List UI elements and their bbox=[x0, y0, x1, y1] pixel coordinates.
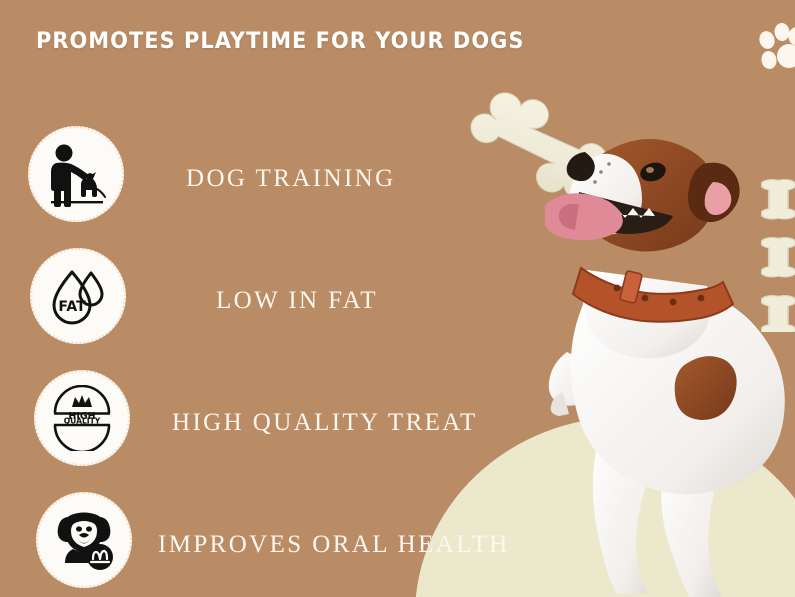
feature-label-improves-oral-health: IMPROVES ORAL HEALTH bbox=[158, 531, 510, 559]
badge-low-in-fat: FAT bbox=[30, 248, 126, 344]
fat-icon-text: FAT bbox=[58, 299, 86, 315]
bone-treat-strip bbox=[761, 172, 795, 332]
dog-dental-health-icon bbox=[51, 507, 117, 573]
badge-dog-training bbox=[28, 126, 124, 222]
paw-print-icon bbox=[749, 22, 795, 70]
high-quality-bottom-text: QUALITY bbox=[64, 417, 101, 426]
high-quality-crown-badge-icon: HIGH QUALITY bbox=[49, 385, 115, 451]
badge-high-quality: HIGH QUALITY bbox=[34, 370, 130, 466]
feature-item-high-quality-treat: HIGH QUALITY HIGH QUALITY TREAT bbox=[0, 362, 560, 484]
promo-poster: PROMOTES PLAYTIME FOR YOUR DOGS bbox=[0, 0, 795, 597]
feature-item-dog-training: DOG TRAINING bbox=[0, 118, 560, 240]
fat-droplet-icon: FAT bbox=[46, 264, 110, 328]
feature-list: DOG TRAINING FAT LOW IN FAT bbox=[0, 118, 560, 597]
feature-item-improves-oral-health: IMPROVES ORAL HEALTH bbox=[0, 484, 560, 597]
person-training-dog-icon bbox=[43, 141, 109, 207]
feature-label-high-quality-treat: HIGH QUALITY TREAT bbox=[172, 409, 478, 437]
feature-label-dog-training: DOG TRAINING bbox=[186, 165, 396, 193]
badge-oral-health bbox=[36, 492, 132, 588]
feature-item-low-in-fat: FAT LOW IN FAT bbox=[0, 240, 560, 362]
feature-label-low-in-fat: LOW IN FAT bbox=[216, 287, 378, 315]
page-title: PROMOTES PLAYTIME FOR YOUR DOGS bbox=[36, 28, 524, 54]
jumping-dog-illustration bbox=[545, 120, 795, 597]
